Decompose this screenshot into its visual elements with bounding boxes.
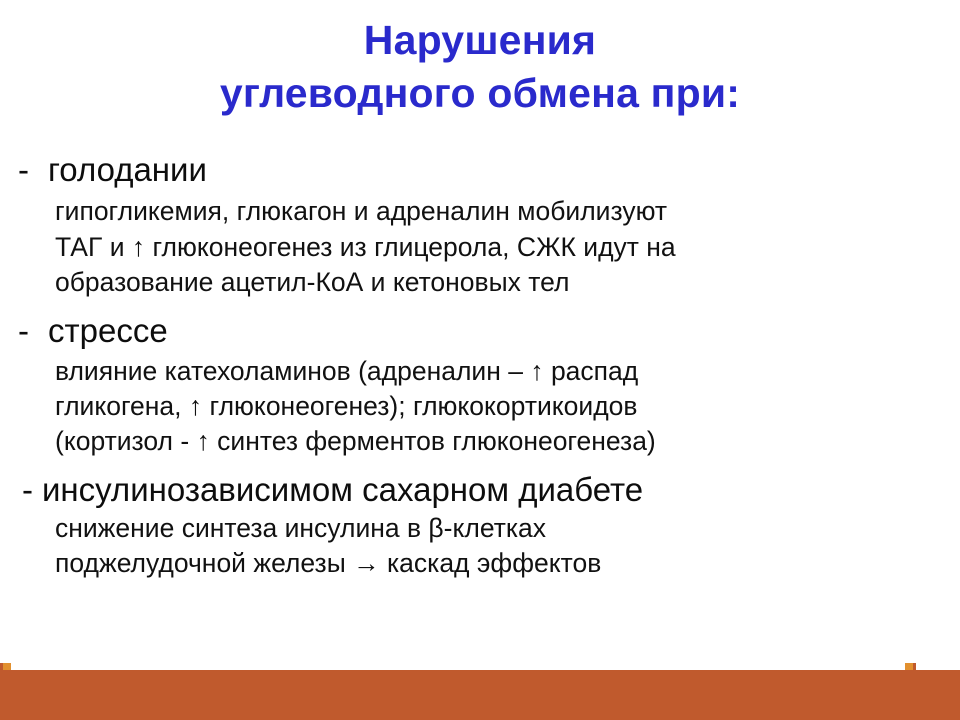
page-title: Нарушения углеводного обмена при: xyxy=(0,14,960,121)
section-fasting-header: - голодании xyxy=(0,150,960,190)
section-fasting-line-2: ТАГ и ↑ глюконеогенез из глицерола, СЖК … xyxy=(55,230,960,265)
section-fasting-body: гипогликемия, глюкагон и адреналин мобил… xyxy=(0,194,960,300)
section-stress-line-2: гликогена, ↑ глюконеогенез); глюкокортик… xyxy=(55,389,960,424)
footer-accent-stem-right xyxy=(913,663,916,670)
footer-bar xyxy=(0,670,960,720)
section-diabetes: - инсулинозависимом сахарном диабете сни… xyxy=(0,470,960,582)
footer-accent-stem-left xyxy=(0,663,3,670)
section-diabetes-line-1: снижение синтеза инсулина в β-клетках xyxy=(55,511,960,546)
section-stress-line-3: (кортизол - ↑ синтез ферментов глюконеог… xyxy=(55,424,960,459)
bullet-dash-icon: - xyxy=(22,470,42,510)
section-stress-body: влияние катехоламинов (адреналин – ↑ рас… xyxy=(0,354,960,460)
page-title-line-2: углеводного обмена при: xyxy=(0,67,960,120)
slide-canvas: Нарушения углеводного обмена при: - голо… xyxy=(0,0,960,720)
section-fasting-line-1: гипогликемия, глюкагон и адреналин мобил… xyxy=(55,194,960,229)
section-stress-line-1: влияние катехоламинов (адреналин – ↑ рас… xyxy=(55,354,960,389)
bullet-dash-icon: - xyxy=(0,150,48,190)
section-diabetes-title: инсулинозависимом сахарном диабете xyxy=(42,470,643,510)
section-stress-title: стрессе xyxy=(48,311,168,351)
section-stress-header: - стрессе xyxy=(0,311,960,351)
section-diabetes-header: - инсулинозависимом сахарном диабете xyxy=(0,470,960,510)
section-diabetes-line-2: поджелудочной железы → каскад эффектов xyxy=(55,546,960,581)
section-stress: - стрессе влияние катехоламинов (адренал… xyxy=(0,311,960,459)
page-title-line-1: Нарушения xyxy=(0,14,960,67)
section-fasting-title: голодании xyxy=(48,150,207,190)
bullet-dash-icon: - xyxy=(0,311,48,351)
section-fasting: - голодании гипогликемия, глюкагон и адр… xyxy=(0,150,960,300)
slide-body: - голодании гипогликемия, глюкагон и адр… xyxy=(0,150,960,582)
section-fasting-line-3: образование ацетил-КоА и кетоновых тел xyxy=(55,265,960,300)
section-diabetes-body: снижение синтеза инсулина в β-клетках по… xyxy=(0,511,960,582)
